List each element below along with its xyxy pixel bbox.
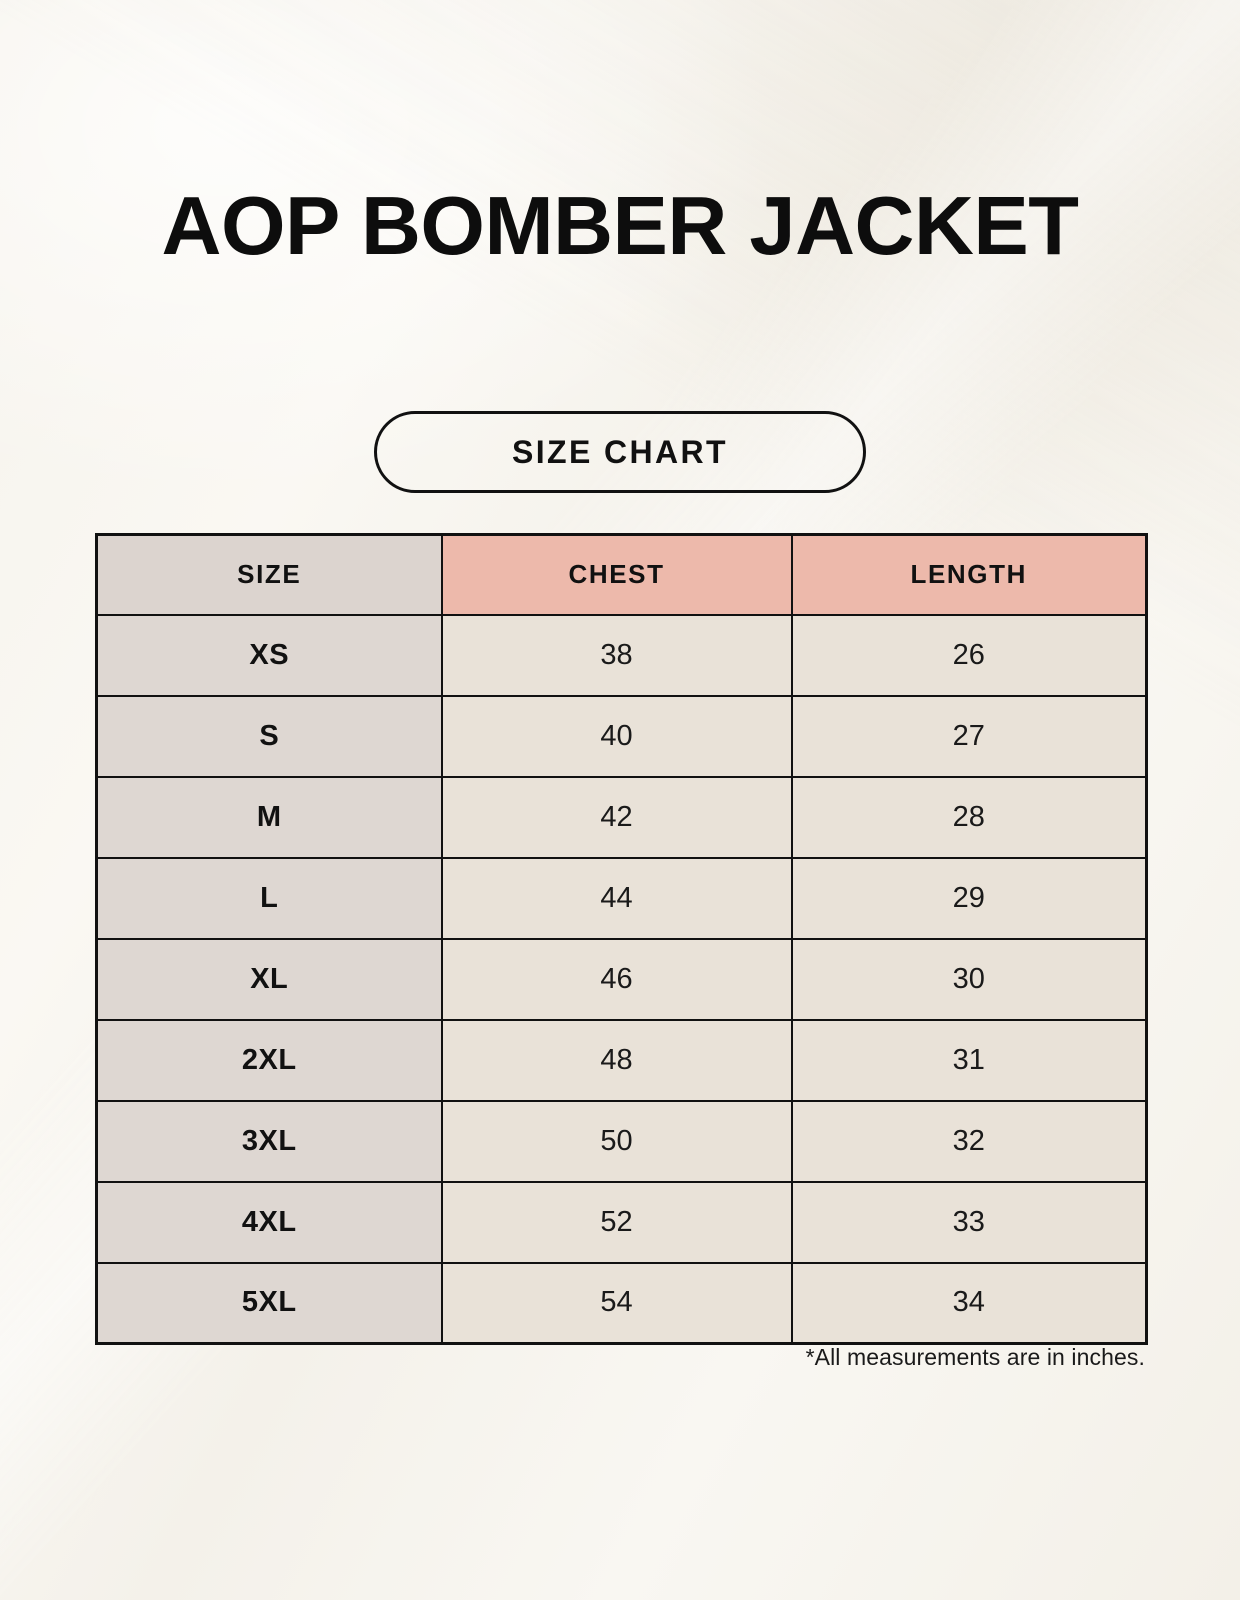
cell-size: XS [97, 615, 442, 696]
cell-chest: 40 [442, 696, 792, 777]
page-title: AOP BOMBER JACKET [0, 186, 1240, 266]
cell-chest: 42 [442, 777, 792, 858]
table-row: XS 38 26 [97, 615, 1147, 696]
table-row: M 42 28 [97, 777, 1147, 858]
size-table-body: XS 38 26 S 40 27 M 42 28 L 44 29 [97, 615, 1147, 1344]
cell-size: 4XL [97, 1182, 442, 1263]
cell-size: S [97, 696, 442, 777]
cell-length: 28 [792, 777, 1147, 858]
table-row: S 40 27 [97, 696, 1147, 777]
cell-chest: 52 [442, 1182, 792, 1263]
cell-size: 2XL [97, 1020, 442, 1101]
column-header-length: LENGTH [792, 535, 1147, 615]
column-header-chest: CHEST [442, 535, 792, 615]
table-header-row: SIZE CHEST LENGTH [97, 535, 1147, 615]
cell-length: 27 [792, 696, 1147, 777]
cell-size: XL [97, 939, 442, 1020]
cell-length: 34 [792, 1263, 1147, 1344]
cell-chest: 38 [442, 615, 792, 696]
table-row: L 44 29 [97, 858, 1147, 939]
cell-chest: 48 [442, 1020, 792, 1101]
cell-length: 31 [792, 1020, 1147, 1101]
cell-size: L [97, 858, 442, 939]
table-row: 4XL 52 33 [97, 1182, 1147, 1263]
cell-length: 32 [792, 1101, 1147, 1182]
measurement-footnote: *All measurements are in inches. [806, 1344, 1145, 1371]
table-row: 2XL 48 31 [97, 1020, 1147, 1101]
cell-length: 33 [792, 1182, 1147, 1263]
cell-length: 30 [792, 939, 1147, 1020]
table-row: 5XL 54 34 [97, 1263, 1147, 1344]
cell-size: 5XL [97, 1263, 442, 1344]
size-chart-page: AOP BOMBER JACKET SIZE CHART SIZE CHEST … [0, 0, 1240, 1600]
size-chart-badge: SIZE CHART [374, 411, 866, 493]
badge-container: SIZE CHART [0, 411, 1240, 493]
size-table-head: SIZE CHEST LENGTH [97, 535, 1147, 615]
cell-length: 26 [792, 615, 1147, 696]
cell-chest: 44 [442, 858, 792, 939]
size-chart-badge-label: SIZE CHART [512, 434, 728, 471]
size-table: SIZE CHEST LENGTH XS 38 26 S 40 27 M [95, 533, 1148, 1345]
table-row: XL 46 30 [97, 939, 1147, 1020]
size-table-container: SIZE CHEST LENGTH XS 38 26 S 40 27 M [95, 533, 1145, 1345]
cell-size: M [97, 777, 442, 858]
cell-chest: 54 [442, 1263, 792, 1344]
table-row: 3XL 50 32 [97, 1101, 1147, 1182]
cell-size: 3XL [97, 1101, 442, 1182]
cell-length: 29 [792, 858, 1147, 939]
cell-chest: 50 [442, 1101, 792, 1182]
column-header-size: SIZE [97, 535, 442, 615]
cell-chest: 46 [442, 939, 792, 1020]
title-block: AOP BOMBER JACKET [0, 186, 1240, 266]
